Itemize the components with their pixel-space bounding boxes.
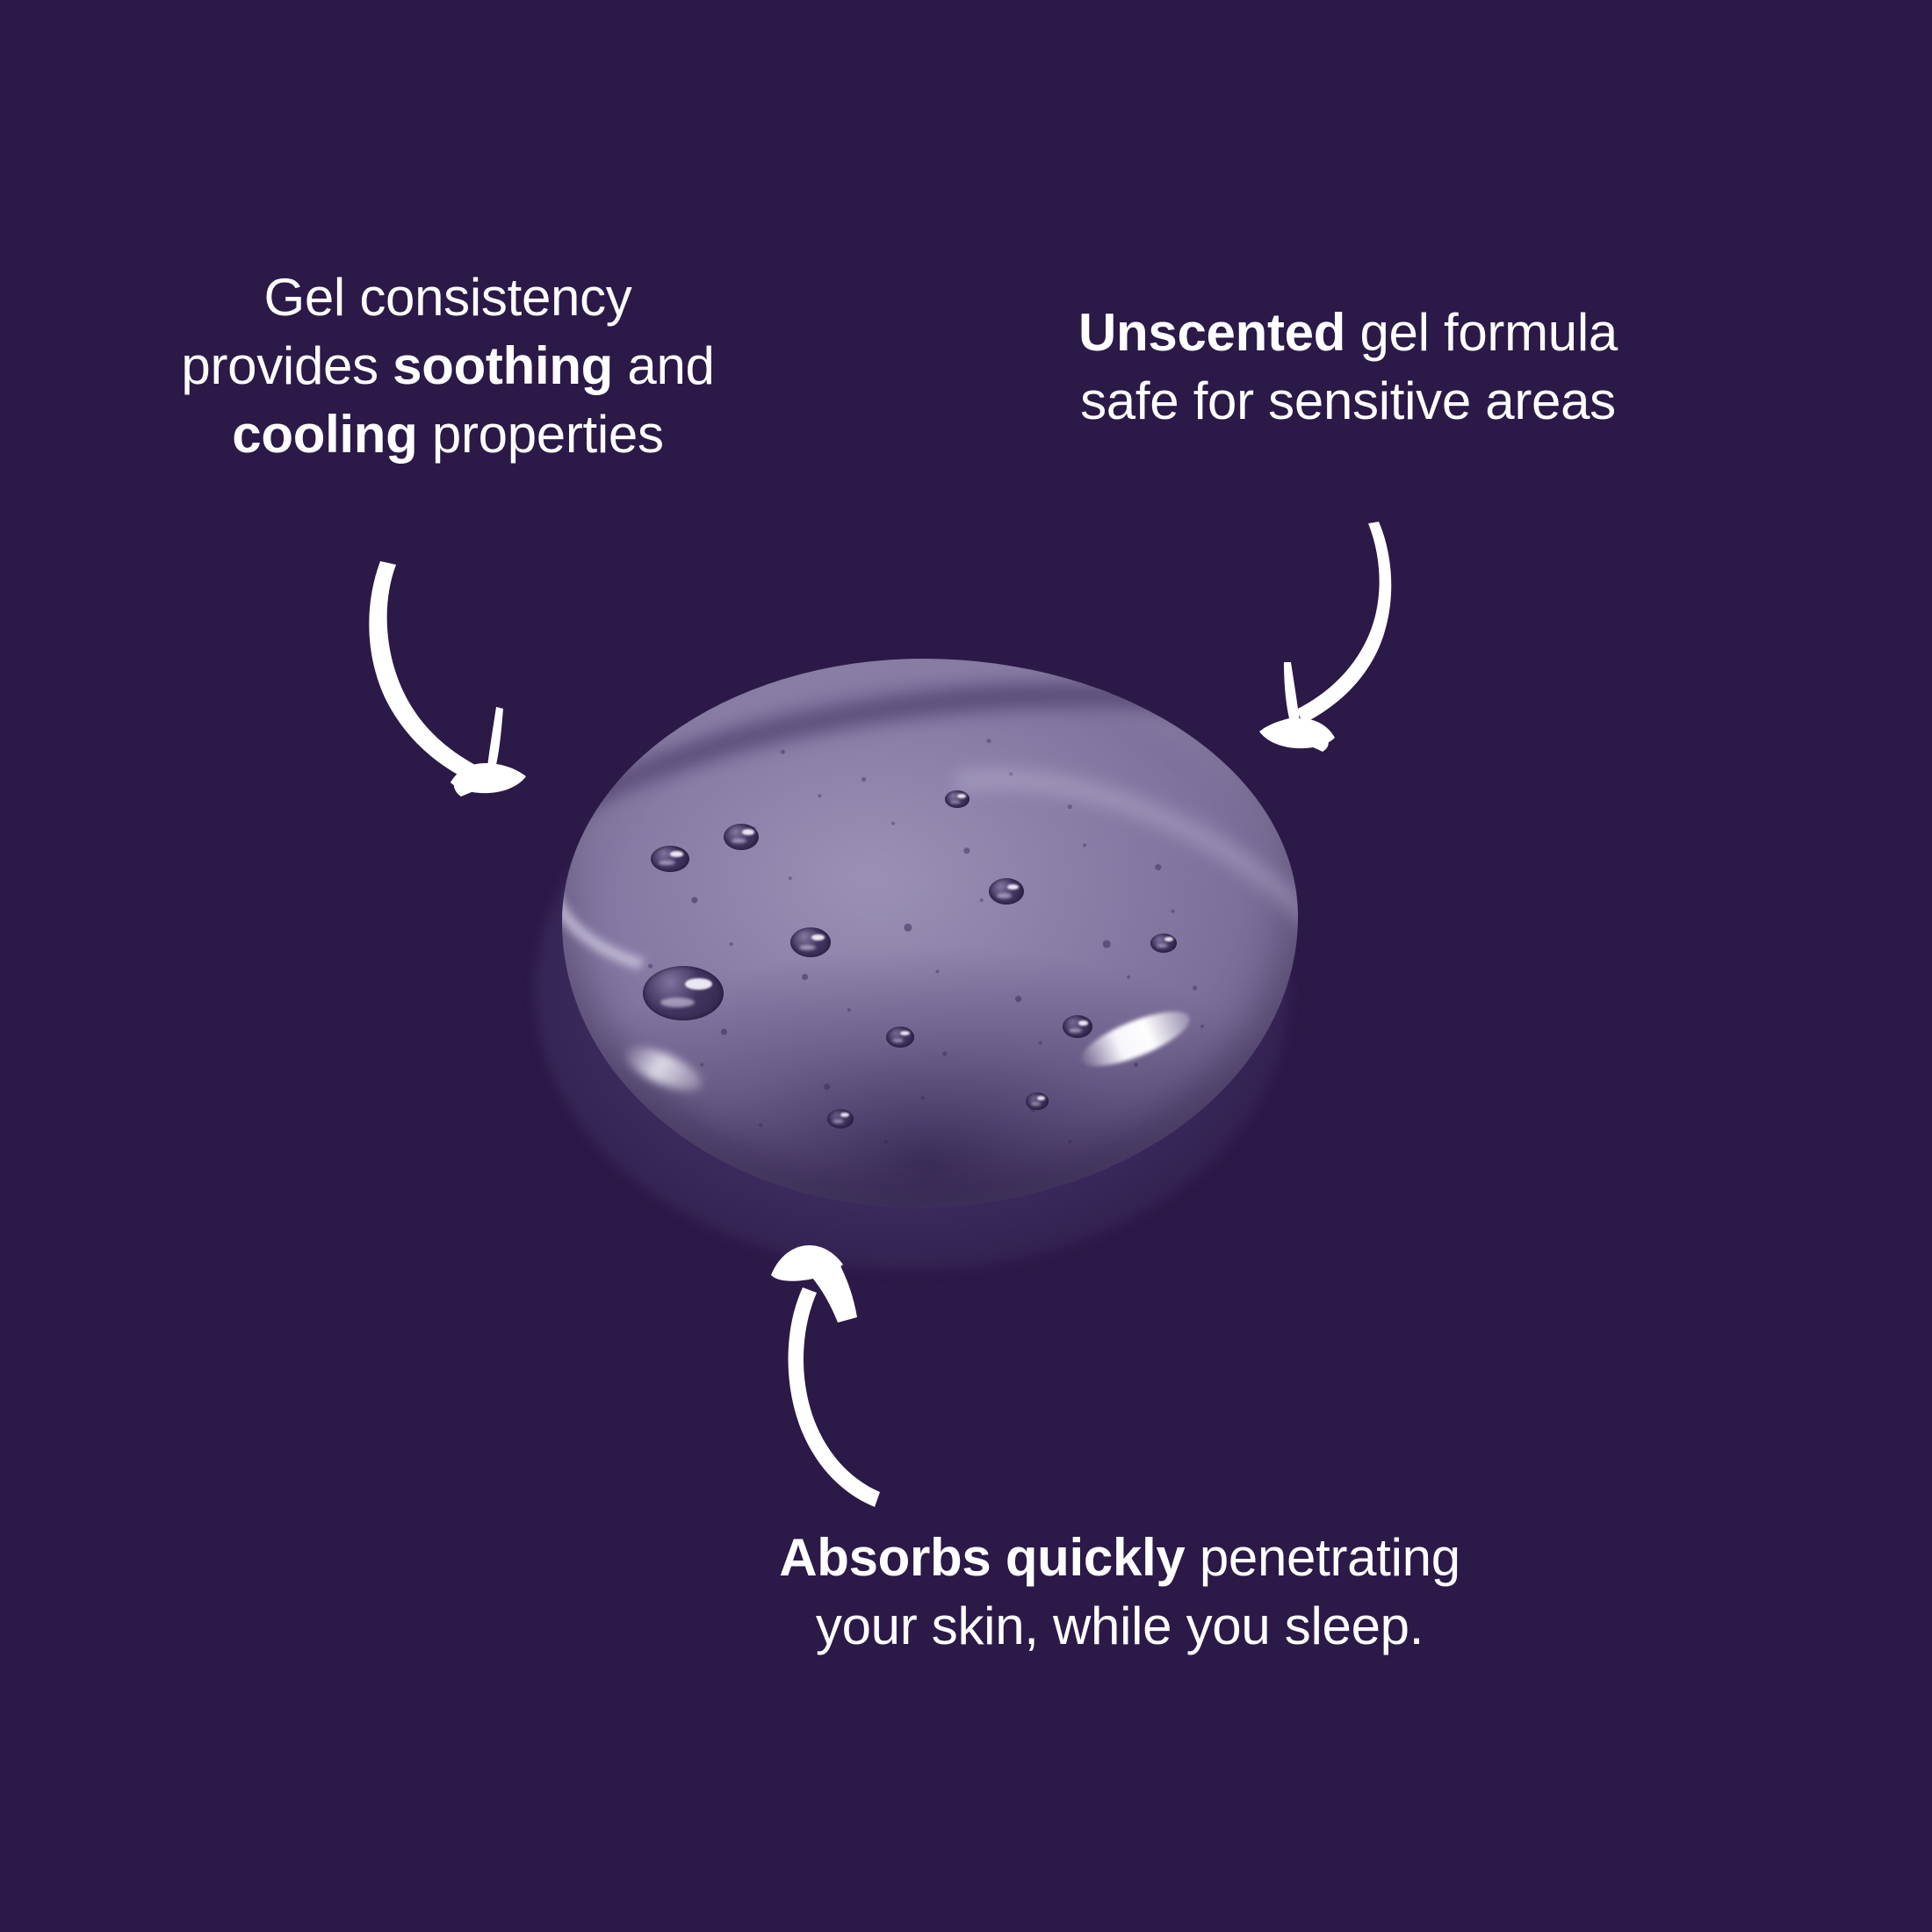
curved-arrow-down-left-icon — [1238, 509, 1475, 755]
callout-text: your skin, while you sleep. — [816, 1597, 1424, 1655]
callout-text: safe for sensitive areas — [1080, 371, 1616, 430]
infographic-canvas: Gel consistency provides soothing and co… — [0, 0, 1932, 1932]
gel-bubble — [1063, 1015, 1092, 1038]
callout-text: provides — [181, 336, 393, 395]
gel-bubble — [945, 790, 970, 808]
callout-emphasis: Absorbs quickly — [779, 1528, 1185, 1587]
callout-absorbs-quickly: Absorbs quickly penetrating your skin, w… — [667, 1524, 1572, 1661]
gel-bubble — [1150, 934, 1177, 953]
gel-bubble — [827, 1109, 854, 1128]
callout-emphasis: cooling — [232, 405, 417, 464]
curved-arrow-down-right-icon — [347, 549, 610, 804]
gel-bubble — [1026, 1092, 1049, 1110]
callout-emphasis: Unscented — [1078, 303, 1345, 362]
callout-line: Gel consistency — [53, 263, 843, 332]
callout-line: provides soothing and — [53, 332, 843, 400]
curved-arrow-up-icon — [764, 1238, 1010, 1519]
callout-emphasis: soothing — [393, 336, 613, 395]
callout-line: cooling properties — [53, 400, 843, 469]
callout-line: Absorbs quickly penetrating — [667, 1524, 1572, 1592]
gel-bubble — [989, 878, 1024, 905]
gel-bubble — [643, 966, 724, 1020]
gel-blob-body — [562, 659, 1298, 1207]
gel-bubble — [724, 824, 759, 850]
callout-text: gel formula — [1345, 303, 1618, 362]
callout-text: penetrating — [1185, 1528, 1460, 1587]
gel-bubble — [651, 846, 689, 872]
callout-text: and — [613, 336, 715, 395]
callout-line: safe for sensitive areas — [1001, 367, 1695, 436]
callout-line: Unscented gel formula — [1001, 299, 1695, 367]
callout-text: properties — [418, 405, 664, 464]
callout-line: your skin, while you sleep. — [667, 1592, 1572, 1661]
callout-text: Gel consistency — [263, 268, 631, 327]
callout-unscented: Unscented gel formula safe for sensitive… — [1001, 299, 1695, 436]
gel-bubble — [790, 927, 831, 957]
gel-bubble — [886, 1027, 914, 1048]
callout-gel-consistency: Gel consistency provides soothing and co… — [53, 263, 843, 469]
gel-blob-image — [527, 641, 1317, 1282]
